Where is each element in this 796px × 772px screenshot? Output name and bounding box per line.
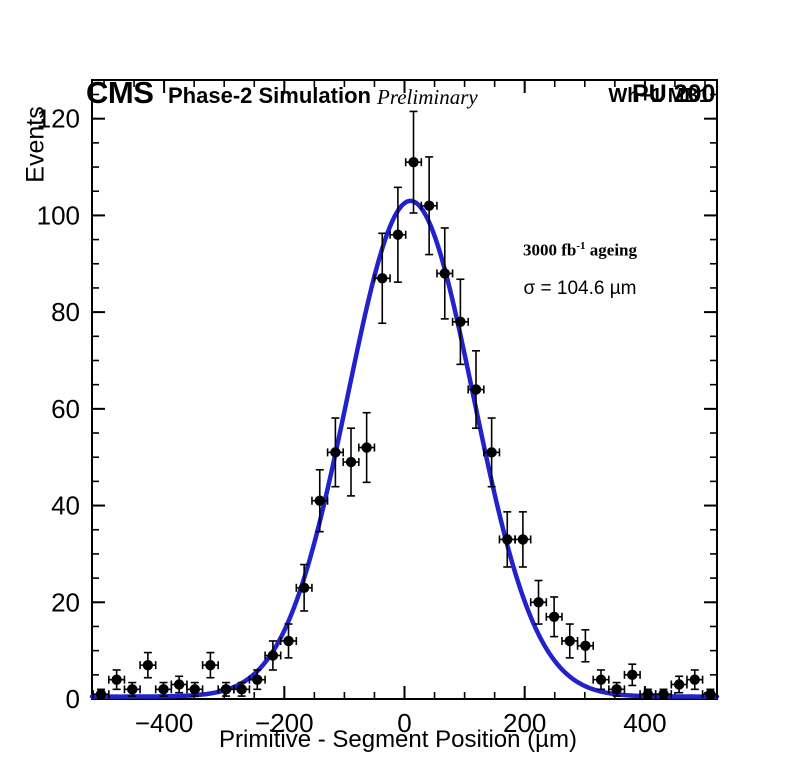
data-point xyxy=(687,670,703,689)
svg-text:100: 100 xyxy=(37,200,80,230)
data-point xyxy=(203,653,219,678)
data-point xyxy=(624,664,640,685)
data-point xyxy=(484,418,500,487)
svg-text:60: 60 xyxy=(51,394,80,424)
data-point xyxy=(593,670,609,689)
svg-text:20: 20 xyxy=(51,587,80,617)
data-point xyxy=(249,670,265,689)
data-point xyxy=(312,470,328,532)
svg-text:200: 200 xyxy=(503,708,546,738)
data-point xyxy=(546,597,562,637)
svg-text:−200: −200 xyxy=(255,708,314,738)
data-point xyxy=(109,670,125,689)
data-point xyxy=(515,512,531,567)
axis-frame xyxy=(92,80,717,699)
data-point xyxy=(406,111,422,213)
data-point xyxy=(437,228,453,319)
svg-text:120: 120 xyxy=(37,104,80,134)
data-point xyxy=(171,676,187,692)
svg-text:0: 0 xyxy=(397,708,411,738)
svg-text:0: 0 xyxy=(66,684,80,714)
data-point xyxy=(374,233,390,323)
svg-text:−400: −400 xyxy=(135,708,194,738)
data-point xyxy=(296,565,312,611)
data-point xyxy=(343,428,359,496)
data-point xyxy=(671,676,687,692)
data-point xyxy=(359,413,375,483)
gaussian-fit-curve xyxy=(92,201,717,697)
data-point xyxy=(140,653,156,678)
svg-text:400: 400 xyxy=(623,708,666,738)
svg-text:40: 40 xyxy=(51,491,80,521)
data-point xyxy=(218,683,234,697)
data-points xyxy=(93,111,717,699)
axis-ticks xyxy=(92,80,717,699)
chart-svg: −400−2000200400020406080100120 xyxy=(0,0,796,772)
plot-canvas: CMS Phase-2 Simulation Preliminary PU 20… xyxy=(0,0,796,772)
data-point xyxy=(578,630,594,662)
data-point xyxy=(562,624,578,658)
data-point xyxy=(124,683,140,697)
data-point xyxy=(468,351,484,428)
svg-text:80: 80 xyxy=(51,297,80,327)
